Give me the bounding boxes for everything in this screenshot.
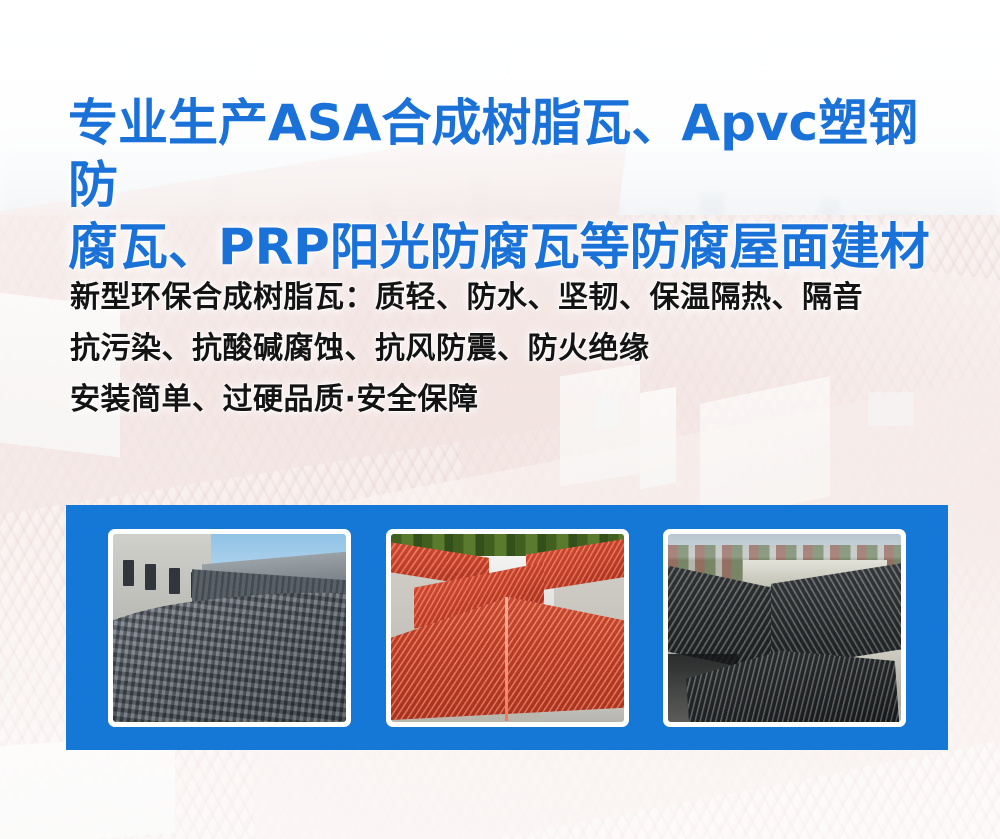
feature-list: 新型环保合成树脂瓦：质轻、防水、坚韧、保温隔热、隔音 抗污染、抗酸碱腐蚀、抗风防… bbox=[70, 272, 960, 425]
feature-line-1: 新型环保合成树脂瓦：质轻、防水、坚韧、保温隔热、隔音 bbox=[70, 272, 960, 323]
grey-tile-roof-photo[interactable] bbox=[108, 529, 351, 727]
dark-tile-roof-photo[interactable] bbox=[663, 529, 906, 727]
photo-gallery-panel bbox=[66, 505, 948, 750]
feature-line-2: 抗污染、抗酸碱腐蚀、抗风防震、防火绝缘 bbox=[70, 323, 960, 374]
red-tile-roof-image bbox=[391, 534, 624, 722]
product-banner: 专业生产ASA合成树脂瓦、Apvc塑钢防 腐瓦、PRP阳光防腐瓦等防腐屋面建材 … bbox=[0, 0, 1000, 839]
grey-tile-roof-image bbox=[113, 534, 346, 722]
red-tile-roof-photo[interactable] bbox=[386, 529, 629, 727]
feature-line-3: 安装简单、过硬品质·安全保障 bbox=[70, 374, 960, 425]
page-title: 专业生产ASA合成树脂瓦、Apvc塑钢防 腐瓦、PRP阳光防腐瓦等防腐屋面建材 bbox=[68, 92, 948, 278]
dark-tile-roof-image bbox=[668, 534, 901, 722]
photo2-roof-ridge bbox=[505, 597, 508, 721]
